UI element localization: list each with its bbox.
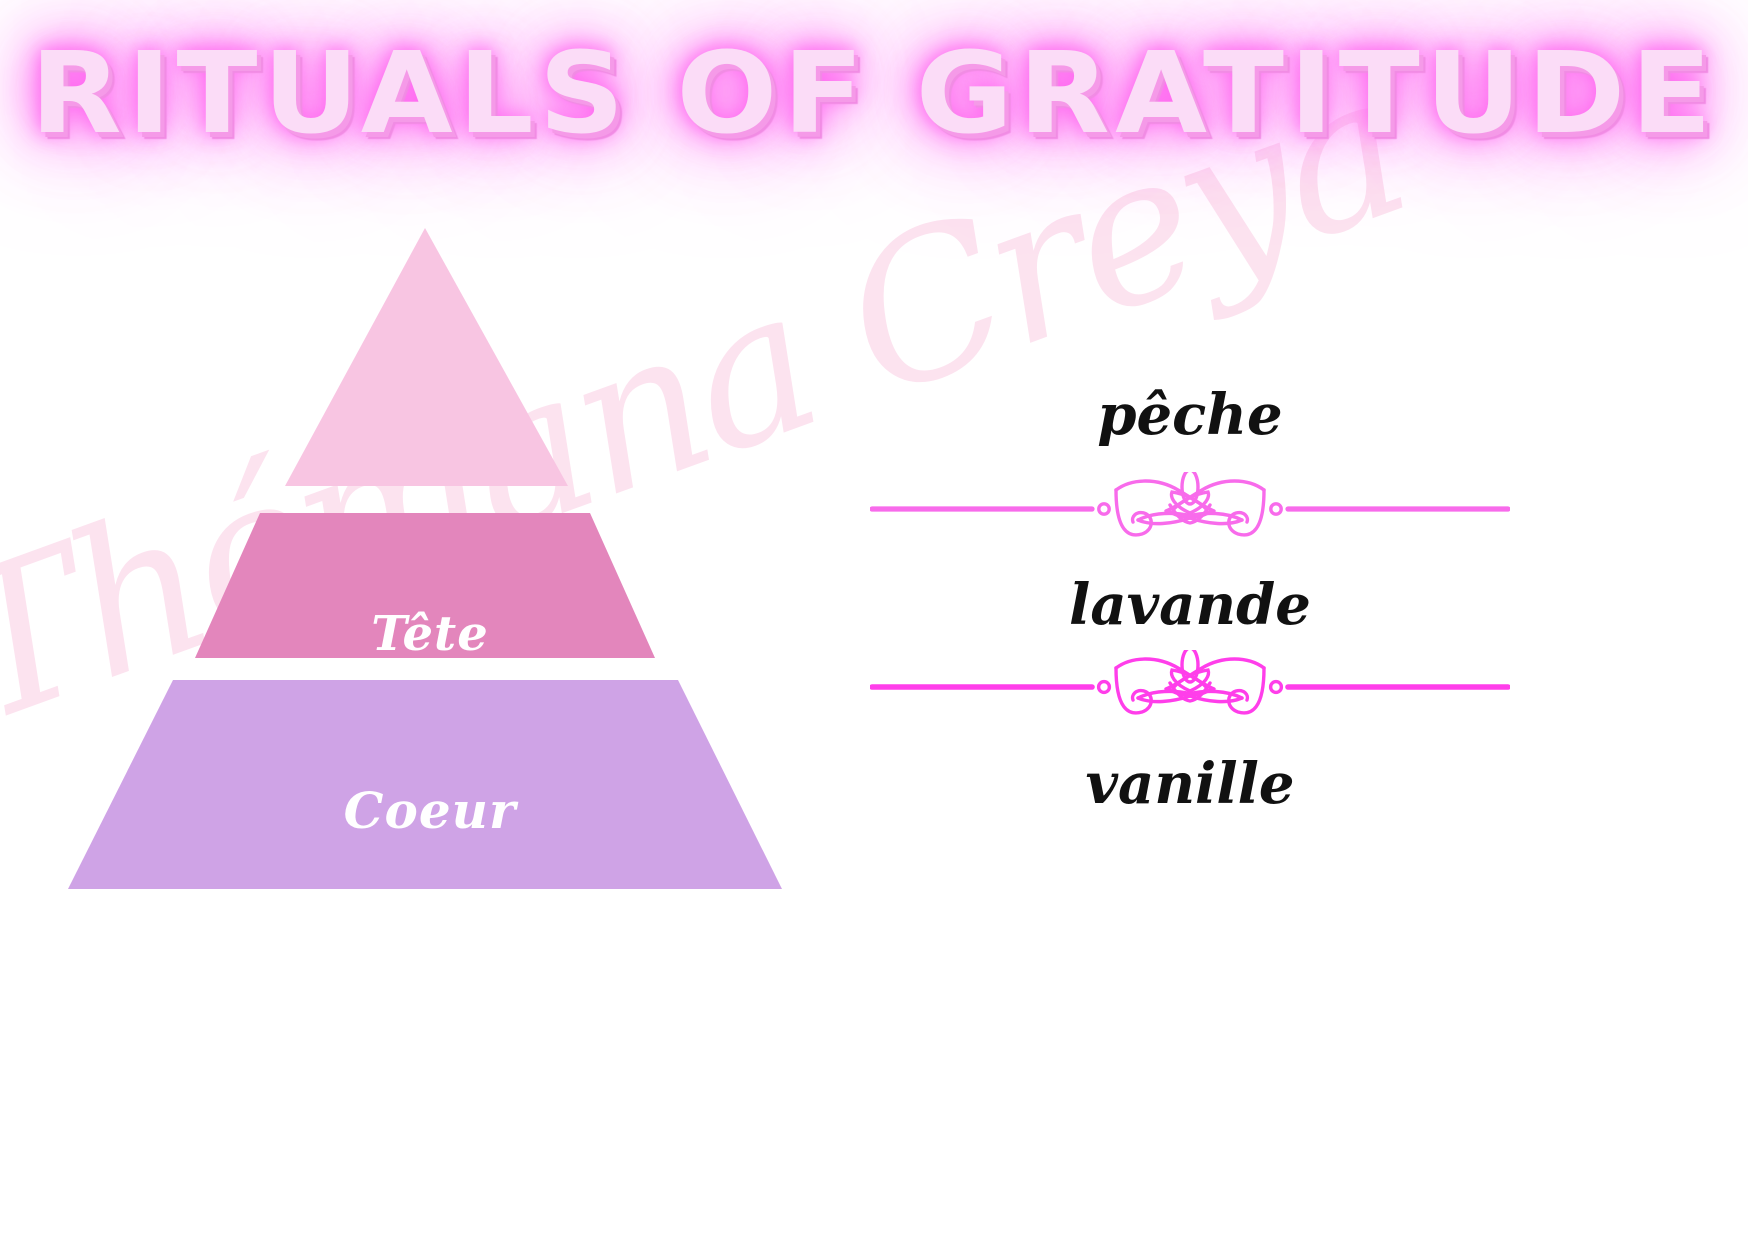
ornament-divider-1 [820,472,1560,546]
fragrance-pyramid: Tête Coeur Fond [60,228,800,893]
note-top-peche: pêche [820,382,1560,448]
note-base-vanille: vanille [820,751,1560,817]
flourish-icon [870,472,1510,546]
poster-canvas: Thémana Creya RITUALS OF GRATITUDE Tête … [0,0,1748,1240]
flourish-icon [870,650,1510,724]
note-middle-lavande: lavande [820,572,1560,638]
pyramid-layer-tete[interactable] [285,228,568,486]
ornament-divider-2 [820,650,1560,724]
pyramid-label-fond: Fond [60,972,800,1031]
page-title: RITUALS OF GRATITUDE [31,34,1718,155]
notes-column: pêche [820,360,1560,840]
page-title-container: RITUALS OF GRATITUDE [0,34,1748,155]
pyramid-label-coeur: Coeur [60,781,800,840]
pyramid-label-tete: Tête [60,606,800,662]
